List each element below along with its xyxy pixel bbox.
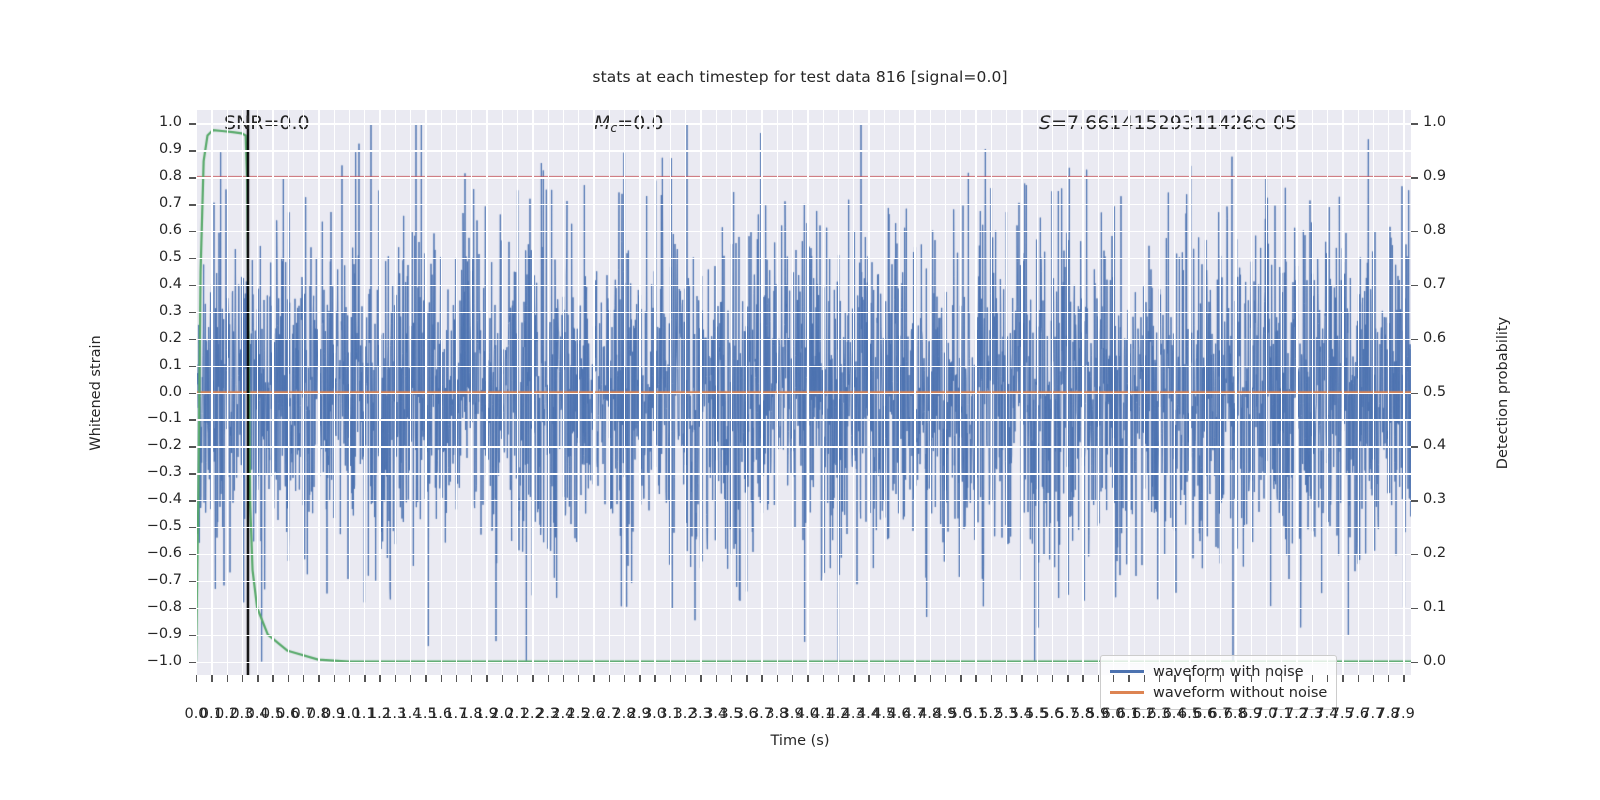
x-tick [823, 675, 824, 682]
y-tick-label-left: 0.2 [142, 330, 182, 346]
y-tick-right [1411, 500, 1418, 501]
x-tick [1373, 675, 1374, 682]
x-tick [272, 675, 273, 682]
x-tick [1037, 675, 1038, 682]
y-tick-label-left: 0.3 [142, 303, 182, 319]
x-tick [1358, 675, 1359, 682]
gridline-vertical [853, 110, 854, 675]
x-tick [716, 675, 717, 682]
x-tick [1266, 675, 1267, 682]
y-tick-label-right: 0.0 [1423, 653, 1469, 669]
legend-item[interactable]: waveform without noise [1110, 682, 1327, 703]
x-tick [242, 675, 243, 682]
gridline-vertical [1067, 110, 1068, 675]
x-tick [654, 675, 655, 682]
y-tick-right [1411, 446, 1418, 447]
x-tick [700, 675, 701, 682]
y-tick-left [189, 285, 196, 286]
x-tick [1174, 675, 1175, 682]
gridline-vertical [486, 110, 487, 675]
gridline-vertical [349, 110, 350, 675]
y-tick-label-left: 0.8 [142, 168, 182, 184]
legend-color-swatch-clean [1110, 691, 1144, 693]
gridline-vertical [1312, 110, 1313, 675]
x-tick [1082, 675, 1083, 682]
gridline-vertical [899, 110, 900, 675]
x-tick [777, 675, 778, 682]
gridline-vertical [685, 110, 686, 675]
x-tick [731, 675, 732, 682]
x-tick [792, 675, 793, 682]
x-tick [196, 675, 197, 682]
y-tick-left [189, 581, 196, 582]
y-tick-right [1411, 285, 1418, 286]
gridline-vertical [914, 110, 915, 675]
gridline-vertical [410, 110, 411, 675]
gridline-vertical [1296, 110, 1297, 675]
x-tick [899, 675, 900, 682]
gridline-vertical [1082, 110, 1083, 675]
gridline-vertical [1098, 110, 1099, 675]
y-tick-label-right: 1.0 [1423, 114, 1469, 130]
y-tick-left [189, 150, 196, 151]
legend-color-swatch-noise [1110, 670, 1144, 672]
gridline-vertical [441, 110, 442, 675]
gridline-vertical [227, 110, 228, 675]
gridline-vertical [456, 110, 457, 675]
gridline-vertical [731, 110, 732, 675]
y-tick-left [189, 177, 196, 178]
y-tick-label-right: 0.8 [1423, 222, 1469, 238]
x-tick [593, 675, 594, 682]
x-tick [532, 675, 533, 682]
y-tick-right [1411, 339, 1418, 340]
y-tick-label-right: 0.2 [1423, 545, 1469, 561]
x-tick [456, 675, 457, 682]
x-tick [441, 675, 442, 682]
gridline-vertical [471, 110, 472, 675]
y-tick-label-left: 0.9 [142, 141, 182, 157]
y-tick-label-right: 0.5 [1423, 384, 1469, 400]
gridline-horizontal [196, 393, 1411, 394]
figure-title: stats at each timestep for test data 816… [0, 68, 1600, 86]
gridline-vertical [761, 110, 762, 675]
x-tick [410, 675, 411, 682]
gridline-vertical [1174, 110, 1175, 675]
gridline-vertical [196, 110, 197, 675]
gridline-vertical [746, 110, 747, 675]
gridline-vertical [960, 110, 961, 675]
y-tick-label-right: 0.9 [1423, 168, 1469, 184]
gridline-vertical [1205, 110, 1206, 675]
x-tick [379, 675, 380, 682]
y-tick-left [189, 393, 196, 394]
gridline-horizontal [196, 554, 1411, 555]
x-tick [395, 675, 396, 682]
y-tick-right [1411, 608, 1418, 609]
x-tick [624, 675, 625, 682]
x-tick [425, 675, 426, 682]
y-tick-left [189, 446, 196, 447]
gridline-vertical [624, 110, 625, 675]
gridline-vertical [1037, 110, 1038, 675]
gridline-vertical [1388, 110, 1389, 675]
x-tick [884, 675, 885, 682]
gridline-vertical [502, 110, 503, 675]
gridline-vertical [532, 110, 533, 675]
y-tick-label-left: 1.0 [142, 114, 182, 130]
gridline-vertical [1006, 110, 1007, 675]
gridline-vertical [1113, 110, 1114, 675]
y-tick-left [189, 473, 196, 474]
legend[interactable]: waveform with noise waveform without noi… [1100, 655, 1337, 710]
y-axis-left-label: Whitened strain [88, 335, 104, 450]
x-tick [1403, 675, 1404, 682]
y-tick-label-left: −1.0 [142, 653, 182, 669]
x-tick [975, 675, 976, 682]
y-tick-left [189, 608, 196, 609]
gridline-vertical [211, 110, 212, 675]
y-tick-left [189, 635, 196, 636]
gridline-vertical [991, 110, 992, 675]
y-tick-label-left: −0.4 [142, 491, 182, 507]
x-tick [548, 675, 549, 682]
x-tick [746, 675, 747, 682]
x-tick [334, 675, 335, 682]
x-tick [1159, 675, 1160, 682]
x-tick [868, 675, 869, 682]
gridline-vertical [823, 110, 824, 675]
gridline-vertical [807, 110, 808, 675]
y-tick-label-left: 0.4 [142, 276, 182, 292]
gridline-horizontal [196, 635, 1411, 636]
x-tick [1067, 675, 1068, 682]
gridline-vertical [1144, 110, 1145, 675]
gridline-vertical [318, 110, 319, 675]
x-tick [257, 675, 258, 682]
gridline-vertical [609, 110, 610, 675]
x-tick [318, 675, 319, 682]
y-tick-left [189, 527, 196, 528]
x-axis-label: Time (s) [0, 733, 1600, 749]
x-tick [471, 675, 472, 682]
x-tick [517, 675, 518, 682]
y-tick-left [189, 204, 196, 205]
x-tick [1205, 675, 1206, 682]
x-tick [1144, 675, 1145, 682]
x-tick [1327, 675, 1328, 682]
matplotlib-figure: stats at each timestep for test data 816… [0, 0, 1600, 800]
gridline-horizontal [196, 608, 1411, 609]
y-tick-left [189, 339, 196, 340]
gridline-vertical [1189, 110, 1190, 675]
x-tick [609, 675, 610, 682]
y-tick-left [189, 419, 196, 420]
x-tick [349, 675, 350, 682]
x-tick [1296, 675, 1297, 682]
y-tick-label-right: 0.1 [1423, 599, 1469, 615]
gridline-vertical [425, 110, 426, 675]
gridline-horizontal [196, 231, 1411, 232]
gridline-horizontal [196, 123, 1411, 124]
x-tick [227, 675, 228, 682]
gridline-vertical [1021, 110, 1022, 675]
x-tick [639, 675, 640, 682]
gridline-horizontal [196, 285, 1411, 286]
y-tick-label-left: 0.7 [142, 195, 182, 211]
x-tick [991, 675, 992, 682]
y-tick-label-left: −0.9 [142, 626, 182, 642]
y-tick-label-left: 0.6 [142, 222, 182, 238]
y-tick-label-left: −0.2 [142, 437, 182, 453]
y-tick-label-left: 0.1 [142, 357, 182, 373]
x-tick [578, 675, 579, 682]
gridline-vertical [700, 110, 701, 675]
gridline-vertical [1342, 110, 1343, 675]
x-tick [945, 675, 946, 682]
x-tick [807, 675, 808, 682]
gridline-vertical [884, 110, 885, 675]
gridline-horizontal [196, 312, 1411, 313]
gridline-vertical [288, 110, 289, 675]
x-tick [1251, 675, 1252, 682]
x-tick [670, 675, 671, 682]
y-tick-label-left: −0.3 [142, 464, 182, 480]
gridline-horizontal [196, 581, 1411, 582]
gridline-vertical [395, 110, 396, 675]
gridline-vertical [654, 110, 655, 675]
gridline-vertical [257, 110, 258, 675]
x-tick [364, 675, 365, 682]
gridline-vertical [945, 110, 946, 675]
gridline-vertical [272, 110, 273, 675]
y-tick-left [189, 662, 196, 663]
gridline-vertical [1220, 110, 1221, 675]
y-tick-label-left: −0.5 [142, 518, 182, 534]
x-tick [761, 675, 762, 682]
gridline-vertical [364, 110, 365, 675]
gridline-vertical [777, 110, 778, 675]
x-tick [914, 675, 915, 682]
gridline-vertical [639, 110, 640, 675]
x-tick [303, 675, 304, 682]
gridline-vertical [1281, 110, 1282, 675]
gridline-vertical [868, 110, 869, 675]
y-tick-label-left: −0.1 [142, 410, 182, 426]
x-tick [1235, 675, 1236, 682]
gridline-horizontal [196, 527, 1411, 528]
y-tick-left [189, 231, 196, 232]
x-tick [1220, 675, 1221, 682]
x-tick [502, 675, 503, 682]
gridline-vertical [1266, 110, 1267, 675]
y-tick-left [189, 366, 196, 367]
y-tick-right [1411, 393, 1418, 394]
y-tick-label-left: 0.5 [142, 249, 182, 265]
x-tick [1189, 675, 1190, 682]
x-tick [563, 675, 564, 682]
plot-area: SNR=0.0 Mc=0.0 S=7.66141529311426e-05 [196, 110, 1411, 675]
x-tick [1006, 675, 1007, 682]
gridline-vertical [548, 110, 549, 675]
gridline-horizontal [196, 366, 1411, 367]
y-tick-label-left: −0.7 [142, 572, 182, 588]
gridline-vertical [1358, 110, 1359, 675]
gridline-vertical [1327, 110, 1328, 675]
y-tick-label-left: −0.6 [142, 545, 182, 561]
y-tick-label-left: −0.8 [142, 599, 182, 615]
y-tick-label-left: 0.0 [142, 384, 182, 400]
gridline-vertical [303, 110, 304, 675]
x-tick [960, 675, 961, 682]
x-tick [838, 675, 839, 682]
x-tick [1052, 675, 1053, 682]
x-tick [1312, 675, 1313, 682]
y-tick-left [189, 123, 196, 124]
y-tick-left [189, 500, 196, 501]
y-tick-label-right: 0.4 [1423, 437, 1469, 453]
gridline-vertical [1128, 110, 1129, 675]
gridline-vertical [379, 110, 380, 675]
y-tick-right [1411, 554, 1418, 555]
y-tick-right [1411, 177, 1418, 178]
x-tick [1113, 675, 1114, 682]
gridline-horizontal [196, 150, 1411, 151]
x-tick [1388, 675, 1389, 682]
gridline-horizontal [196, 258, 1411, 259]
y-tick-right [1411, 662, 1418, 663]
gridline-horizontal [196, 339, 1411, 340]
gridline-vertical [670, 110, 671, 675]
gridline-horizontal [196, 177, 1411, 178]
y-tick-left [189, 312, 196, 313]
x-tick [930, 675, 931, 682]
gridline-vertical [1159, 110, 1160, 675]
gridline-vertical [1251, 110, 1252, 675]
gridline-horizontal [196, 419, 1411, 420]
gridline-vertical [716, 110, 717, 675]
gridline-vertical [578, 110, 579, 675]
gridline-vertical [334, 110, 335, 675]
gridline-vertical [1235, 110, 1236, 675]
x-tick [853, 675, 854, 682]
x-tick-label: 7.9 [1386, 706, 1420, 722]
y-tick-right [1411, 231, 1418, 232]
gridline-horizontal [196, 473, 1411, 474]
x-tick [486, 675, 487, 682]
y-tick-left [189, 258, 196, 259]
y-axis-right-label: Detection probability [1495, 316, 1511, 468]
x-tick [211, 675, 212, 682]
x-tick [1098, 675, 1099, 682]
gridline-vertical [930, 110, 931, 675]
y-tick-label-right: 0.6 [1423, 330, 1469, 346]
x-tick [1128, 675, 1129, 682]
gridline-horizontal [196, 500, 1411, 501]
y-tick-right [1411, 123, 1418, 124]
y-tick-label-right: 0.3 [1423, 491, 1469, 507]
x-tick [1021, 675, 1022, 682]
gridline-vertical [242, 110, 243, 675]
x-tick [288, 675, 289, 682]
gridline-horizontal [196, 446, 1411, 447]
x-tick [1281, 675, 1282, 682]
x-tick [685, 675, 686, 682]
gridline-horizontal [196, 204, 1411, 205]
gridline-vertical [593, 110, 594, 675]
y-tick-label-right: 0.7 [1423, 276, 1469, 292]
gridline-vertical [517, 110, 518, 675]
y-tick-left [189, 554, 196, 555]
gridline-vertical [1403, 110, 1404, 675]
gridline-vertical [1052, 110, 1053, 675]
gridline-vertical [792, 110, 793, 675]
gridline-vertical [563, 110, 564, 675]
gridline-vertical [838, 110, 839, 675]
legend-label: waveform without noise [1153, 685, 1327, 701]
gridline-vertical [975, 110, 976, 675]
x-tick [1342, 675, 1343, 682]
gridline-vertical [1373, 110, 1374, 675]
